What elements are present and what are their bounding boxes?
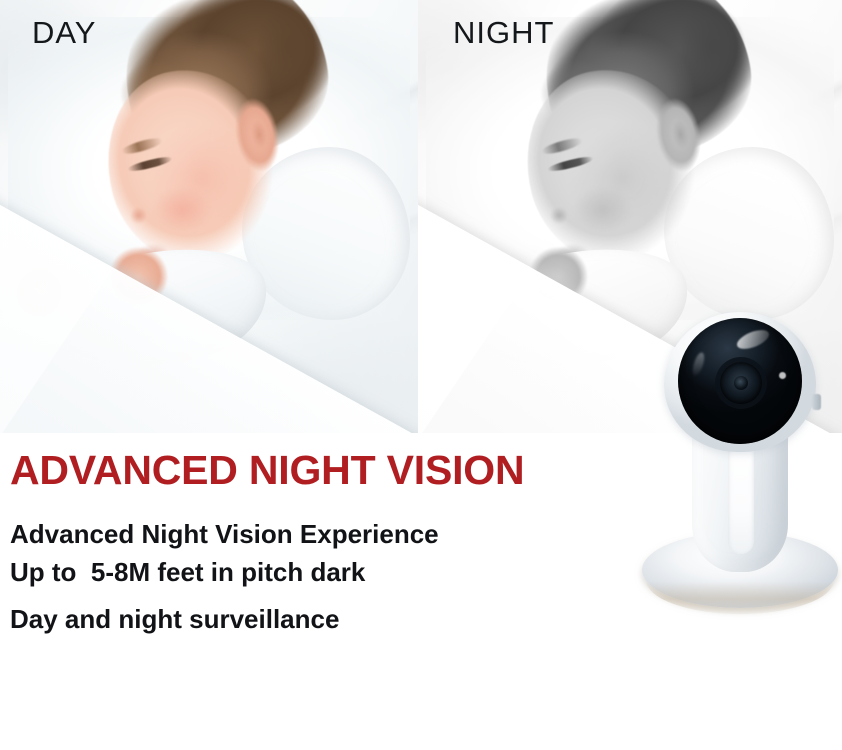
camera-stand-slot (728, 438, 754, 554)
day-photo-panel: DAY (0, 0, 418, 433)
product-banner: DAY (0, 0, 842, 750)
day-panel-label: DAY (32, 17, 96, 48)
baby-cheek (142, 178, 221, 243)
baby-cheek (562, 178, 643, 243)
marketing-copy: ADVANCED NIGHT VISION Advanced Night Vis… (0, 433, 600, 636)
feature-item: Up to 5-8M feet in pitch dark (10, 556, 600, 589)
lens-highlight (779, 372, 786, 379)
feature-list: Advanced Night Vision Experience Up to 5… (10, 518, 600, 636)
baby-nose (547, 204, 570, 228)
day-scene-image (0, 0, 418, 433)
camera-side-port (812, 394, 821, 410)
headline: ADVANCED NIGHT VISION (10, 433, 600, 492)
security-camera-image (640, 300, 840, 630)
night-panel-label: NIGHT (453, 17, 554, 48)
camera-lens-aperture (734, 376, 748, 390)
feature-item: Day and night surveillance (10, 603, 600, 636)
feature-item: Advanced Night Vision Experience (10, 518, 600, 551)
